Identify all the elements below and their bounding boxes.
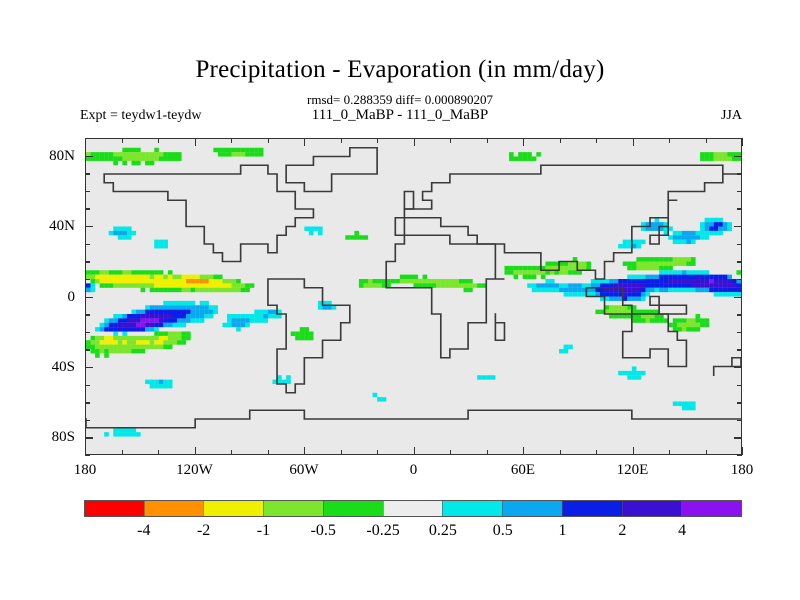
axis-tick [669, 138, 670, 143]
axis-tick [737, 261, 742, 262]
axis-tick [268, 138, 269, 143]
colorbar-segment [681, 501, 741, 516]
y-axis-tick-label: 40S [52, 358, 75, 376]
colorbar-segment [323, 501, 383, 516]
colorbar [84, 500, 742, 517]
axis-tick [737, 420, 742, 421]
colorbar-segment [562, 501, 622, 516]
axis-tick [304, 447, 305, 455]
axis-tick [633, 447, 634, 455]
axis-tick [85, 455, 90, 456]
axis-tick [450, 138, 451, 143]
axis-tick [450, 450, 451, 455]
colorbar-tick-label: 1 [559, 521, 567, 540]
colorbar-segment [263, 501, 323, 516]
x-axis-tick-label: 180 [74, 461, 97, 479]
axis-tick [231, 138, 232, 143]
axis-tick [523, 138, 524, 146]
axis-tick [737, 332, 742, 333]
axis-tick [414, 138, 415, 146]
axis-tick [737, 208, 742, 209]
axis-tick [669, 450, 670, 455]
axis-tick [742, 447, 743, 455]
axis-tick [734, 156, 742, 157]
colorbar-tick-label: -4 [137, 521, 150, 540]
colorbar-tick-label: 4 [678, 521, 686, 540]
axis-tick [734, 226, 742, 227]
x-axis-tick-label: 120E [617, 461, 649, 479]
axis-tick [122, 138, 123, 143]
x-axis-tick-label: 120W [176, 461, 213, 479]
axis-tick [85, 173, 90, 174]
axis-tick [737, 173, 742, 174]
axis-tick [737, 279, 742, 280]
statistics-line: rmsd= 0.288359 diff= 0.000890207 [0, 92, 800, 107]
axis-tick [85, 447, 86, 455]
axis-tick [158, 138, 159, 143]
colorbar-segment [85, 501, 144, 516]
axis-tick [596, 138, 597, 143]
axis-tick [85, 385, 90, 386]
axis-tick [734, 367, 742, 368]
axis-tick [737, 349, 742, 350]
axis-tick [341, 138, 342, 143]
axis-tick [195, 447, 196, 455]
x-axis-tick-label: 60E [511, 461, 535, 479]
x-axis-tick-label: 0 [410, 461, 418, 479]
axis-tick [734, 437, 742, 438]
axis-tick [85, 349, 90, 350]
axis-tick [85, 367, 93, 368]
axis-tick [85, 191, 90, 192]
coastline-overlay [86, 139, 741, 454]
axis-tick [158, 450, 159, 455]
colorbar-tick-label: 2 [618, 521, 626, 540]
axis-tick [85, 138, 90, 139]
axis-tick [195, 138, 196, 146]
axis-tick [737, 244, 742, 245]
axis-tick [560, 450, 561, 455]
axis-tick [734, 297, 742, 298]
axis-tick [560, 138, 561, 143]
axis-tick [737, 191, 742, 192]
axis-tick [414, 447, 415, 455]
colorbar-tick-label: -2 [197, 521, 210, 540]
axis-tick [85, 314, 90, 315]
y-axis-tick-label: 0 [68, 288, 76, 306]
axis-tick [737, 385, 742, 386]
axis-tick [523, 447, 524, 455]
map-plot-area [85, 138, 742, 455]
precipitation-evaporation-figure: Precipitation - Evaporation (in mm/day) … [0, 0, 800, 600]
axis-tick [737, 314, 742, 315]
axis-tick [85, 208, 90, 209]
axis-tick [706, 450, 707, 455]
axis-tick [85, 226, 93, 227]
colorbar-tick-label: -0.25 [366, 521, 399, 540]
axis-tick [377, 138, 378, 143]
axis-tick [737, 455, 742, 456]
axis-tick [122, 450, 123, 455]
colorbar-segment [203, 501, 263, 516]
axis-tick [304, 138, 305, 146]
axis-tick [85, 244, 90, 245]
axis-tick [742, 138, 743, 146]
axis-tick [85, 420, 90, 421]
experiment-label: Expt = teydw1-teydw [80, 108, 201, 124]
colorbar-tick-label: 0.5 [493, 521, 513, 540]
axis-tick [737, 402, 742, 403]
colorbar-segment [622, 501, 682, 516]
colorbar-segment [383, 501, 443, 516]
colorbar-segment [502, 501, 562, 516]
axis-tick [85, 402, 90, 403]
axis-tick [487, 138, 488, 143]
colorbar-segment [442, 501, 502, 516]
axis-tick [85, 437, 93, 438]
axis-tick [268, 450, 269, 455]
colorbar-segment [144, 501, 204, 516]
axis-tick [341, 450, 342, 455]
map-panel [85, 138, 742, 455]
y-axis-tick-label: 80N [49, 147, 75, 165]
season-label: JJA [721, 108, 742, 124]
axis-tick [706, 138, 707, 143]
axis-tick [633, 138, 634, 146]
axis-tick [377, 450, 378, 455]
x-axis-tick-label: 60W [289, 461, 318, 479]
colorbar-tick-label: -0.5 [311, 521, 336, 540]
y-axis-tick-label: 40N [49, 217, 75, 235]
x-axis-tick-label: 180 [731, 461, 754, 479]
page-title: Precipitation - Evaporation (in mm/day) [0, 55, 800, 85]
y-axis-tick-label: 80S [52, 428, 75, 446]
axis-tick [487, 450, 488, 455]
colorbar-tick-label: 0.25 [429, 521, 457, 540]
axis-tick [85, 297, 93, 298]
axis-tick [85, 156, 93, 157]
axis-tick [231, 450, 232, 455]
axis-tick [737, 138, 742, 139]
axis-tick [85, 261, 90, 262]
colorbar-tick-label: -1 [257, 521, 270, 540]
axis-tick [85, 332, 90, 333]
axis-tick [596, 450, 597, 455]
axis-tick [85, 279, 90, 280]
